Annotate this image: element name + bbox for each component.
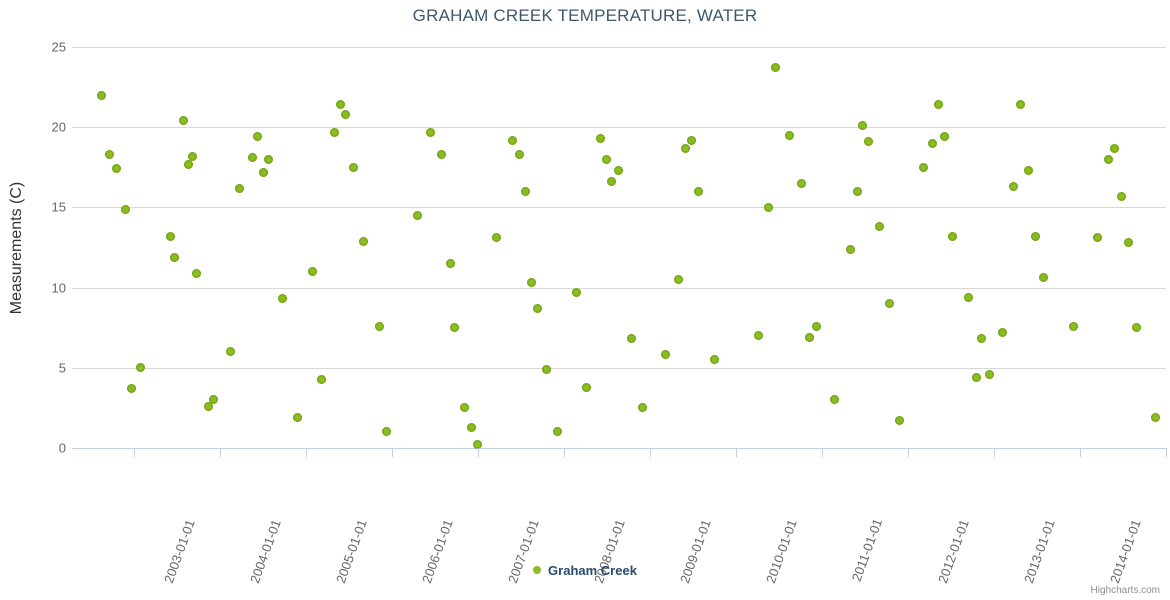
data-point[interactable] bbox=[1151, 413, 1160, 422]
data-point[interactable] bbox=[226, 347, 235, 356]
legend-item-label: Graham Creek bbox=[548, 563, 637, 578]
data-point[interactable] bbox=[105, 150, 114, 159]
y-axis-tick-labels: 0510152025 bbox=[0, 47, 66, 448]
data-point[interactable] bbox=[184, 160, 193, 169]
data-point[interactable] bbox=[308, 267, 317, 276]
data-point[interactable] bbox=[797, 179, 806, 188]
data-point[interactable] bbox=[785, 131, 794, 140]
data-point[interactable] bbox=[1124, 238, 1133, 247]
data-point[interactable] bbox=[533, 304, 542, 313]
data-point[interactable] bbox=[235, 184, 244, 193]
data-point[interactable] bbox=[830, 395, 839, 404]
data-point[interactable] bbox=[764, 203, 773, 212]
data-point[interactable] bbox=[437, 150, 446, 159]
data-point[interactable] bbox=[627, 334, 636, 343]
data-point[interactable] bbox=[515, 150, 524, 159]
data-point[interactable] bbox=[253, 132, 262, 141]
data-point[interactable] bbox=[166, 232, 175, 241]
data-point[interactable] bbox=[336, 100, 345, 109]
data-point[interactable] bbox=[330, 128, 339, 137]
data-point[interactable] bbox=[375, 322, 384, 331]
data-point[interactable] bbox=[977, 334, 986, 343]
data-point[interactable] bbox=[508, 136, 517, 145]
data-point[interactable] bbox=[413, 211, 422, 220]
chart-title: GRAHAM CREEK TEMPERATURE, WATER bbox=[0, 6, 1170, 26]
data-point[interactable] bbox=[694, 187, 703, 196]
data-point[interactable] bbox=[805, 333, 814, 342]
data-point[interactable] bbox=[607, 177, 616, 186]
data-point[interactable] bbox=[1039, 273, 1048, 282]
data-point[interactable] bbox=[293, 413, 302, 422]
data-point[interactable] bbox=[998, 328, 1007, 337]
data-point[interactable] bbox=[582, 383, 591, 392]
data-point[interactable] bbox=[864, 137, 873, 146]
data-point[interactable] bbox=[264, 155, 273, 164]
data-point[interactable] bbox=[661, 350, 670, 359]
gridline bbox=[72, 127, 1166, 128]
y-tick-label: 10 bbox=[8, 280, 66, 295]
gridline bbox=[72, 47, 1166, 48]
data-point[interactable] bbox=[1110, 144, 1119, 153]
data-point[interactable] bbox=[317, 375, 326, 384]
data-point[interactable] bbox=[341, 110, 350, 119]
data-point[interactable] bbox=[278, 294, 287, 303]
data-point[interactable] bbox=[136, 363, 145, 372]
plot-area bbox=[72, 47, 1166, 448]
data-point[interactable] bbox=[602, 155, 611, 164]
data-point[interactable] bbox=[638, 403, 647, 412]
data-point[interactable] bbox=[934, 100, 943, 109]
data-point[interactable] bbox=[127, 384, 136, 393]
data-point[interactable] bbox=[919, 163, 928, 172]
data-point[interactable] bbox=[542, 365, 551, 374]
data-point[interactable] bbox=[964, 293, 973, 302]
data-point[interactable] bbox=[1132, 323, 1141, 332]
data-point[interactable] bbox=[895, 416, 904, 425]
data-point[interactable] bbox=[1016, 100, 1025, 109]
data-point[interactable] bbox=[754, 331, 763, 340]
data-point[interactable] bbox=[681, 144, 690, 153]
data-point[interactable] bbox=[687, 136, 696, 145]
gridline bbox=[72, 368, 1166, 369]
data-point[interactable] bbox=[527, 278, 536, 287]
data-point[interactable] bbox=[928, 139, 937, 148]
data-point[interactable] bbox=[170, 253, 179, 262]
gridline bbox=[72, 288, 1166, 289]
data-point[interactable] bbox=[349, 163, 358, 172]
data-point[interactable] bbox=[450, 323, 459, 332]
data-point[interactable] bbox=[188, 152, 197, 161]
data-point[interactable] bbox=[248, 153, 257, 162]
data-point[interactable] bbox=[1093, 233, 1102, 242]
data-point[interactable] bbox=[674, 275, 683, 284]
highcharts-credit[interactable]: Highcharts.com bbox=[1091, 585, 1160, 596]
data-point[interactable] bbox=[521, 187, 530, 196]
gridline bbox=[72, 207, 1166, 208]
highcharts-container: GRAHAM CREEK TEMPERATURE, WATER Measurem… bbox=[0, 0, 1170, 600]
data-point[interactable] bbox=[1024, 166, 1033, 175]
y-tick-label: 15 bbox=[8, 200, 66, 215]
data-point[interactable] bbox=[209, 395, 218, 404]
data-point[interactable] bbox=[492, 233, 501, 242]
data-point[interactable] bbox=[259, 168, 268, 177]
data-point[interactable] bbox=[1104, 155, 1113, 164]
data-point[interactable] bbox=[596, 134, 605, 143]
data-point[interactable] bbox=[771, 63, 780, 72]
data-point[interactable] bbox=[948, 232, 957, 241]
data-point[interactable] bbox=[572, 288, 581, 297]
data-point[interactable] bbox=[853, 187, 862, 196]
data-point[interactable] bbox=[858, 121, 867, 130]
data-point[interactable] bbox=[460, 403, 469, 412]
data-point[interactable] bbox=[875, 222, 884, 231]
data-point[interactable] bbox=[446, 259, 455, 268]
data-point[interactable] bbox=[1069, 322, 1078, 331]
legend-marker-icon bbox=[533, 566, 541, 574]
data-point[interactable] bbox=[1031, 232, 1040, 241]
y-tick-label: 0 bbox=[8, 441, 66, 456]
data-point[interactable] bbox=[179, 116, 188, 125]
chart-legend: Graham Creek bbox=[0, 562, 1170, 578]
y-tick-label: 20 bbox=[8, 120, 66, 135]
data-point[interactable] bbox=[846, 245, 855, 254]
data-point[interactable] bbox=[121, 205, 130, 214]
data-point[interactable] bbox=[940, 132, 949, 141]
y-tick-label: 5 bbox=[8, 360, 66, 375]
data-point[interactable] bbox=[359, 237, 368, 246]
data-point[interactable] bbox=[972, 373, 981, 382]
data-point[interactable] bbox=[382, 427, 391, 436]
data-point[interactable] bbox=[426, 128, 435, 137]
data-point[interactable] bbox=[614, 166, 623, 175]
data-point[interactable] bbox=[553, 427, 562, 436]
data-point[interactable] bbox=[467, 423, 476, 432]
x-axis-tick-labels: 2003-01-012004-01-012005-01-012006-01-01… bbox=[0, 455, 1170, 555]
data-point[interactable] bbox=[97, 91, 106, 100]
data-point[interactable] bbox=[710, 355, 719, 364]
data-point[interactable] bbox=[112, 164, 121, 173]
data-point[interactable] bbox=[1117, 192, 1126, 201]
data-point[interactable] bbox=[812, 322, 821, 331]
y-tick-label: 25 bbox=[8, 40, 66, 55]
data-point[interactable] bbox=[192, 269, 201, 278]
legend-item-graham-creek[interactable]: Graham Creek bbox=[533, 563, 637, 578]
data-point[interactable] bbox=[985, 370, 994, 379]
data-point[interactable] bbox=[885, 299, 894, 308]
data-point[interactable] bbox=[1009, 182, 1018, 191]
